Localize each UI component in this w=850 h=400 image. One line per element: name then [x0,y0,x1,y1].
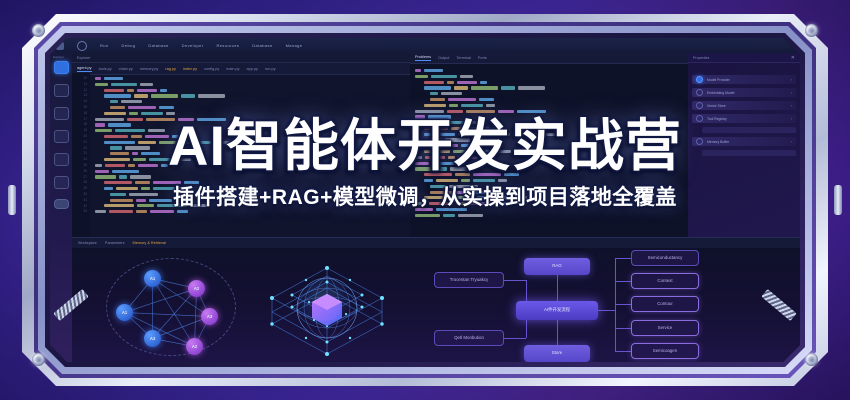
line-number: 19 [83,129,87,132]
code-token [415,110,444,113]
code-token [110,152,129,155]
code-line[interactable] [415,190,684,193]
frame-vent-right [834,185,842,215]
terminal-tab-problems[interactable]: Problems [415,55,431,61]
code-token [95,123,105,126]
ide-window: Run Debug Database Developer Resources D… [50,38,800,362]
code-line[interactable] [95,198,406,201]
code-token [160,89,167,92]
code-token [153,187,175,190]
code-token [456,202,467,205]
code-token [457,81,477,84]
refresh-circle-icon[interactable] [77,41,87,51]
code-line[interactable] [95,106,406,109]
inspector-rows[interactable]: Model Provider›Embedding Model›Vector St… [692,75,796,156]
code-line[interactable] [415,86,684,89]
code-token [134,94,148,97]
code-token [149,199,172,202]
menu-item-run[interactable]: Run [100,43,109,48]
memory-icon [696,138,703,145]
editor-tab-config[interactable]: config.py [204,67,219,71]
code-token [415,162,429,165]
code-token [190,204,207,207]
code-token [172,135,183,138]
explorer-icon[interactable] [54,61,69,74]
code-line[interactable] [95,94,406,97]
cloud-icon[interactable] [54,153,69,166]
ide-menubar[interactable]: Run Debug Database Developer Resources D… [50,38,800,53]
code-token [141,152,160,155]
vector-icon [696,102,703,109]
connector-r3 [615,304,631,305]
code-token [455,173,470,176]
code-token [424,69,443,72]
code-line[interactable] [415,208,684,211]
code-token [95,164,102,167]
code-token [461,144,480,147]
code-token [430,138,442,141]
code-token [181,94,195,97]
code-token [116,187,138,190]
editor-tab-memory[interactable]: memory.py [140,67,159,71]
code-token [501,86,515,89]
chevron-right-icon[interactable]: › [791,116,792,121]
code-token [127,89,134,92]
editor-tab-rag[interactable]: rag.py [165,67,176,71]
search-icon[interactable] [54,107,69,120]
frame-bolt-top-right [805,24,818,37]
flow-node-left-1[interactable]: Trocentan Tryuakcy [434,272,504,288]
inspector-row[interactable]: Memory Buffer› [692,137,796,146]
network-node[interactable]: A3 [201,308,218,325]
code-line[interactable] [95,123,406,126]
line-number: 32 [83,205,87,208]
code-token [95,129,112,132]
code-line[interactable] [415,138,684,141]
code-line[interactable] [95,164,406,167]
menu-item-resources[interactable]: Resources [217,43,240,48]
flow-node-right-1[interactable]: Semiconductancy [631,250,699,266]
code-token [443,214,455,217]
code-token [415,208,433,211]
connector-r4 [615,328,631,329]
line-number: 21 [83,141,87,144]
connector-top [557,274,558,302]
code-line[interactable] [415,196,684,199]
extensions-icon[interactable] [54,130,69,143]
code-token [112,170,139,173]
code-token [136,210,147,213]
code-token [460,75,473,78]
inspector-row[interactable]: Vector Store› [692,101,796,110]
code-token [436,179,458,182]
code-token [448,156,455,159]
code-token [104,77,123,80]
code-token [486,104,495,107]
line-number: 14 [83,100,87,103]
code-token [95,170,109,173]
code-token [454,86,468,89]
code-token [149,158,175,161]
code-token [430,92,438,95]
code-token [461,104,483,107]
code-token [504,173,519,176]
terminal-tab-terminal[interactable]: Terminal [456,56,470,60]
code-token [518,86,545,89]
code-line[interactable] [415,92,684,95]
editor-tab-tools[interactable]: tools.py [99,67,112,71]
code-token [430,185,446,188]
inspector-row-label: Vector Store [707,104,726,108]
line-number: 25 [83,164,87,167]
code-token [449,185,478,188]
line-number: 31 [83,199,87,202]
line-number: 30 [83,193,87,196]
code-token [127,118,143,121]
code-token [424,104,446,107]
network-node[interactable]: A3 [144,330,161,347]
code-token [119,175,127,178]
code-token [132,152,138,155]
network-node[interactable]: A1 [144,270,161,287]
code-line[interactable] [415,69,684,72]
code-token [470,202,494,205]
code-line[interactable] [415,127,684,130]
flow-node-right-2[interactable]: Context [631,273,699,289]
code-token [95,83,108,86]
architecture-flowchart: RAG AI件开发流程 Store Trocentan Tryuakcy Qet… [412,244,702,362]
code-token [130,175,151,178]
code-token [166,112,175,115]
tool-icon [696,115,703,122]
editor-tab-agent[interactable]: agent.py [77,66,92,72]
code-token [128,164,135,167]
code-token [479,133,510,136]
code-token [430,191,453,194]
code-line[interactable] [415,133,684,136]
code-line[interactable] [95,135,406,138]
line-number: 13 [83,94,87,97]
code-token [95,118,124,121]
bottom-tab-workspace[interactable]: Workspace [78,241,97,245]
chevron-right-icon[interactable]: › [791,77,792,82]
code-token [178,187,187,190]
code-token [138,141,156,144]
terminal-tab-output[interactable]: Output [438,56,449,60]
core-visual-svg [262,250,392,362]
connector-left-b [504,338,526,339]
settings-pill-icon[interactable] [54,199,69,209]
code-token [429,202,453,205]
flow-node-store[interactable]: Store [524,345,590,362]
code-token [140,83,153,86]
line-number: 27 [83,176,87,179]
code-line[interactable] [95,83,406,86]
code-token [131,135,142,138]
code-token [435,121,465,124]
code-line[interactable] [415,214,684,217]
inspector-subrow[interactable] [702,150,796,156]
code-token [135,181,150,184]
code-token [159,106,174,109]
code-token [161,164,168,167]
code-line[interactable] [95,193,406,196]
code-token [108,123,131,126]
menu-item-database[interactable]: Database [148,43,168,48]
network-node[interactable]: A2 [186,338,203,355]
code-token [458,133,476,136]
code-token [115,129,145,132]
code-token [534,133,565,136]
editor-tab-app[interactable]: app.py [247,67,258,71]
code-token [110,146,122,149]
flow-node-right-4[interactable]: Service [631,320,699,336]
code-line[interactable] [95,100,406,103]
editor-tab-main[interactable]: main.py [226,67,239,71]
code-token [110,100,118,103]
code-line[interactable] [95,117,406,120]
inspector-row[interactable]: Tool Registry› [692,114,796,123]
code-token [129,193,158,196]
code-token [104,204,134,207]
code-line[interactable] [415,185,684,188]
code-line[interactable] [415,121,684,124]
code-token [141,112,163,115]
source-control-icon[interactable] [54,84,69,97]
code-token [456,191,466,194]
code-token [141,187,150,190]
code-token [415,75,428,78]
connector-left-a [504,280,526,281]
code-token [145,135,169,138]
bottom-tab-memory[interactable]: Memory & Retrieval [133,241,166,245]
code-line[interactable] [415,81,684,84]
menu-item-manage[interactable]: Manage [286,43,303,48]
connector-bottom [557,320,558,346]
agent-network-graph: A1A2A1A3A3A2 [100,254,240,359]
code-token [441,92,462,95]
line-number: 10 [83,77,87,80]
code-line[interactable] [415,104,684,107]
connector-right-out [597,310,615,311]
code-token [448,98,476,101]
code-token [424,150,450,153]
code-token [95,77,101,80]
code-line[interactable] [415,167,684,170]
code-token [471,86,498,89]
code-token [497,202,508,205]
code-token [153,181,181,184]
line-number: 20 [83,135,87,138]
line-number: 24 [83,158,87,161]
code-token [424,173,452,176]
frame-bolt-bottom-left [32,353,45,366]
code-line[interactable] [95,204,406,207]
flow-node-left-2[interactable]: Qetl Monbution [434,330,504,346]
inspector-row[interactable]: Embedding Model› [692,88,796,97]
code-token [498,179,507,182]
code-line[interactable] [415,179,684,182]
code-line[interactable] [415,144,684,147]
code-token [473,173,501,176]
editor-tab-index[interactable]: index.py [183,67,197,71]
code-token [461,179,470,182]
code-token [480,81,487,84]
code-token [477,196,507,199]
inspector-row-label: Model Provider [707,78,730,82]
screen: Run Debug Database Developer Resources D… [50,38,800,362]
banner-stage: Run Debug Database Developer Resources D… [0,0,850,400]
code-line[interactable] [95,77,406,80]
menu-item-debug[interactable]: Debug [122,43,136,48]
code-line[interactable] [95,152,406,155]
code-token [469,150,495,153]
code-token [431,75,457,78]
code-line[interactable] [95,129,406,132]
line-number: 17 [83,118,87,121]
connector-r5 [615,351,631,352]
code-line[interactable] [415,162,684,165]
terminal-tabbar[interactable]: Problems Output Terminal Ports [410,53,688,64]
code-token [457,196,474,199]
breadcrumb: Explorer [72,53,410,63]
code-token [510,196,527,199]
code-token [424,81,444,84]
chevron-right-icon[interactable]: › [791,139,792,144]
code-token [458,156,478,159]
code-token [424,127,448,130]
code-token [498,110,514,113]
code-line[interactable] [95,146,406,149]
code-token [150,210,174,213]
code-token [109,210,133,213]
code-token [151,94,178,97]
code-line[interactable] [415,109,684,112]
menu-item-database-2[interactable]: Database [252,43,272,48]
code-line[interactable] [95,175,406,178]
line-number: 11 [84,83,87,86]
code-token [458,214,483,217]
code-token [128,106,156,109]
code-token [415,69,421,72]
flow-node-right-3[interactable]: Contour [631,296,699,312]
inspector-row[interactable]: Model Provider› [692,75,796,84]
close-icon[interactable]: ✕ [791,55,795,61]
code-line[interactable] [95,170,406,173]
editor-tab-run[interactable]: run.py [265,67,276,71]
code-token [449,104,458,107]
chevron-right-icon[interactable]: › [791,103,792,108]
code-token [104,158,130,161]
line-number: 26 [83,170,87,173]
code-line[interactable] [95,181,406,184]
code-token [177,210,188,213]
network-node[interactable]: A2 [188,280,205,297]
code-token [110,106,125,109]
code-token [445,138,470,141]
flow-node-center[interactable]: AI件开发流程 [516,301,598,320]
code-token [436,208,467,211]
code-token [415,115,425,118]
code-token [125,146,150,149]
inspector-subrow[interactable] [702,127,796,133]
code-token [104,135,128,138]
code-token [469,191,492,194]
line-number: 18 [83,123,87,126]
network-node[interactable]: A1 [116,304,133,321]
code-token [492,127,503,130]
code-line[interactable] [415,75,684,78]
code-line[interactable] [95,210,406,213]
menu-item-developer[interactable]: Developer [182,43,204,48]
code-token [111,83,137,86]
code-token [453,150,466,153]
line-number: 22 [83,147,87,150]
code-token [198,94,225,97]
code-token [121,100,142,103]
code-line[interactable] [95,141,406,144]
account-icon[interactable] [54,176,69,189]
code-token [110,193,126,196]
code-token [136,199,146,202]
code-token [465,127,489,130]
terminal-tab-ports[interactable]: Ports [478,56,487,60]
inspector-row-label: Embedding Model [707,91,734,95]
code-token [415,167,436,170]
code-line[interactable] [415,115,684,118]
code-line[interactable] [95,158,406,161]
code-line[interactable] [415,156,684,159]
code-token [133,158,146,161]
connector-right-bus [615,258,616,352]
code-line[interactable] [95,112,406,115]
code-token [479,98,494,101]
code-token [110,199,133,202]
connector-r2 [615,281,631,282]
code-token [148,129,165,132]
code-token [468,121,485,124]
code-token [415,214,440,217]
code-token [137,204,154,207]
code-token [415,202,426,205]
code-token [138,164,158,167]
code-token [415,121,432,124]
flow-node-right-5[interactable]: Semicoagen [631,343,699,359]
chevron-right-icon[interactable]: › [791,90,792,95]
frame-bolt-bottom-right [805,353,818,366]
code-token [439,167,447,170]
inspector-title: Properties [688,53,800,63]
bottom-tab-parameters[interactable]: Parameters [105,241,125,245]
inspector-row-label: Tool Registry [707,117,727,121]
code-token [104,89,124,92]
code-token [424,86,451,89]
editor-tab-chain[interactable]: chain.py [119,67,133,71]
code-token [424,196,454,199]
flow-node-rag[interactable]: RAG [524,258,590,275]
code-token [104,141,135,144]
frame-vent-left [8,185,16,215]
code-line[interactable] [95,89,406,92]
code-token [447,81,454,84]
code-line[interactable] [415,202,684,205]
code-line[interactable] [415,150,684,153]
code-line[interactable] [415,173,684,176]
connector-r1 [615,258,631,259]
code-token [104,187,113,190]
code-line[interactable] [95,187,406,190]
code-line[interactable] [415,98,684,101]
